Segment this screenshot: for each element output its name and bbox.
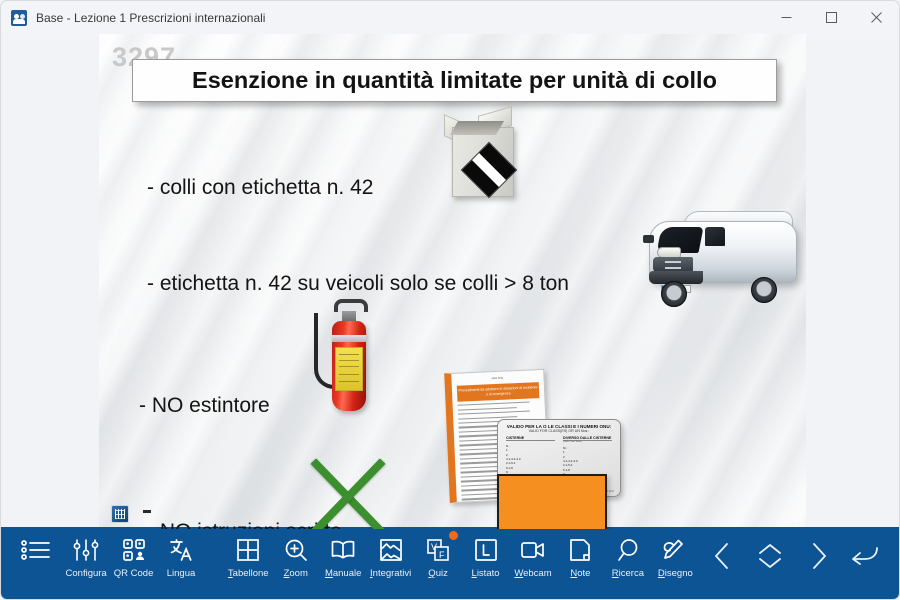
- integrativi-label: Integrativi: [370, 568, 411, 579]
- fire-extinguisher-image: [304, 289, 398, 419]
- manuale-label: Manuale: [325, 568, 361, 579]
- window-controls: [764, 1, 899, 34]
- lingua-label: Lingua: [167, 568, 196, 579]
- dash-marker-icon: [143, 510, 151, 513]
- grid-icon: [236, 533, 260, 567]
- listato-l-icon: [474, 533, 498, 567]
- card-title-en: VALID FOR CLASS(ES) OR UN Nos.:: [503, 429, 615, 433]
- exit-button[interactable]: [841, 533, 888, 579]
- maximize-button[interactable]: [809, 1, 854, 34]
- van-wheel: [751, 277, 777, 303]
- app-window: Base - Lezione 1 Prescrizioni internazio…: [0, 0, 900, 600]
- lingua-button[interactable]: Lingua: [157, 533, 204, 579]
- chevron-left-icon: [712, 541, 734, 571]
- list-icon: [21, 533, 51, 567]
- van-mirror: [643, 235, 654, 243]
- configura-label: Configura: [66, 568, 107, 579]
- ricerca-button[interactable]: Ricerca: [604, 533, 651, 579]
- qr-code-icon: [122, 533, 146, 567]
- carton-top: [450, 121, 504, 135]
- van-logo-icon: [665, 261, 681, 269]
- next-slide-button[interactable]: [794, 533, 841, 579]
- previous-slide-button[interactable]: [699, 533, 746, 579]
- note-label: Note: [570, 568, 590, 579]
- carton-body: [452, 127, 514, 197]
- svg-text:V: V: [431, 542, 437, 552]
- tabellone-button[interactable]: Tabellone: [225, 533, 272, 579]
- window-title: Base - Lezione 1 Prescrizioni internazio…: [36, 11, 265, 25]
- manuale-button[interactable]: Manuale: [319, 533, 366, 579]
- card-column-left: CISTERNE N. : 1 2 4.1-4.2-4.3 2.1-5.2 6.…: [506, 436, 555, 476]
- translate-icon: [168, 533, 194, 567]
- written-instructions-image: ADR 2011 Procedimenti da adottare in sit…: [439, 371, 634, 529]
- qr-thumbnail-icon[interactable]: [111, 505, 129, 523]
- quiz-vf-icon: V F: [426, 533, 450, 567]
- card-column-right-sub: (Other Than Tanks): [563, 441, 612, 443]
- ricerca-label: Ricerca: [612, 568, 644, 579]
- updown-slide-button[interactable]: [747, 533, 794, 579]
- extinguisher-label: [335, 347, 363, 391]
- page-title: Esenzione in quantità limitate per unità…: [192, 67, 717, 94]
- app-icon: [11, 10, 27, 26]
- webcam-icon: [520, 533, 546, 567]
- qr-code-button[interactable]: QR Code: [110, 533, 157, 579]
- configura-button[interactable]: Configura: [62, 533, 109, 579]
- bottom-toolbar: Configura QR Code: [1, 527, 899, 599]
- zoom-in-icon: [284, 533, 308, 567]
- svg-text:F: F: [439, 550, 445, 560]
- quiz-label: Quiz: [428, 568, 448, 579]
- close-button[interactable]: [854, 1, 899, 34]
- chevron-up-down-icon: [755, 541, 785, 571]
- search-icon: [616, 533, 640, 567]
- doc-orange-header: Procedimenti da adottare in situazioni d…: [457, 382, 540, 402]
- quiz-button[interactable]: V F Quiz: [414, 533, 461, 579]
- book-icon: [330, 533, 356, 567]
- webcam-label: Webcam: [514, 568, 551, 579]
- pencil-icon: [662, 533, 688, 567]
- card-column-left-header: CISTERNE: [506, 436, 555, 441]
- zoom-button[interactable]: Zoom: [272, 533, 319, 579]
- note-button[interactable]: Note: [557, 533, 604, 579]
- extinguisher-band: [332, 335, 366, 342]
- listato-label: Listato: [472, 568, 500, 579]
- delivery-van-image: [639, 199, 804, 317]
- carton-with-label-42-image: [444, 109, 524, 199]
- qr-code-label: QR Code: [114, 568, 154, 579]
- images-icon: [379, 533, 403, 567]
- van-side-window: [705, 227, 725, 246]
- zoom-label: Zoom: [284, 568, 308, 579]
- quiz-notification-badge: [449, 531, 458, 540]
- return-arrow-icon: [850, 543, 880, 569]
- doc-small-heading: ADR 2011: [451, 375, 543, 382]
- listato-button[interactable]: Listato: [462, 533, 509, 579]
- chevron-right-icon: [807, 541, 829, 571]
- card-column-right: DIVERSO DALLE CISTERNE (Other Than Tanks…: [563, 436, 612, 476]
- content-area: 3297 Esenzione in quantità limitate per …: [1, 34, 899, 527]
- tabellone-label: Tabellone: [228, 568, 269, 579]
- orange-hazard-panel: [497, 474, 607, 529]
- minimize-button[interactable]: [764, 1, 809, 34]
- title-bar: Base - Lezione 1 Prescrizioni internazio…: [1, 1, 899, 34]
- green-cross-overlay-extinguisher: [298, 430, 398, 529]
- disegno-label: Disegno: [658, 568, 693, 579]
- sliders-icon: [73, 533, 99, 567]
- integrativi-button[interactable]: Integrativi: [367, 533, 414, 579]
- note-icon: [569, 533, 591, 567]
- slide-title-box: Esenzione in quantità limitate per unità…: [132, 59, 777, 102]
- label-42-icon: [461, 142, 518, 199]
- disegno-button[interactable]: Disegno: [652, 533, 699, 579]
- van-wheel: [661, 281, 687, 307]
- menu-list-button[interactable]: [9, 533, 62, 568]
- webcam-button[interactable]: Webcam: [509, 533, 556, 579]
- slide-canvas[interactable]: 3297 Esenzione in quantità limitate per …: [99, 34, 806, 529]
